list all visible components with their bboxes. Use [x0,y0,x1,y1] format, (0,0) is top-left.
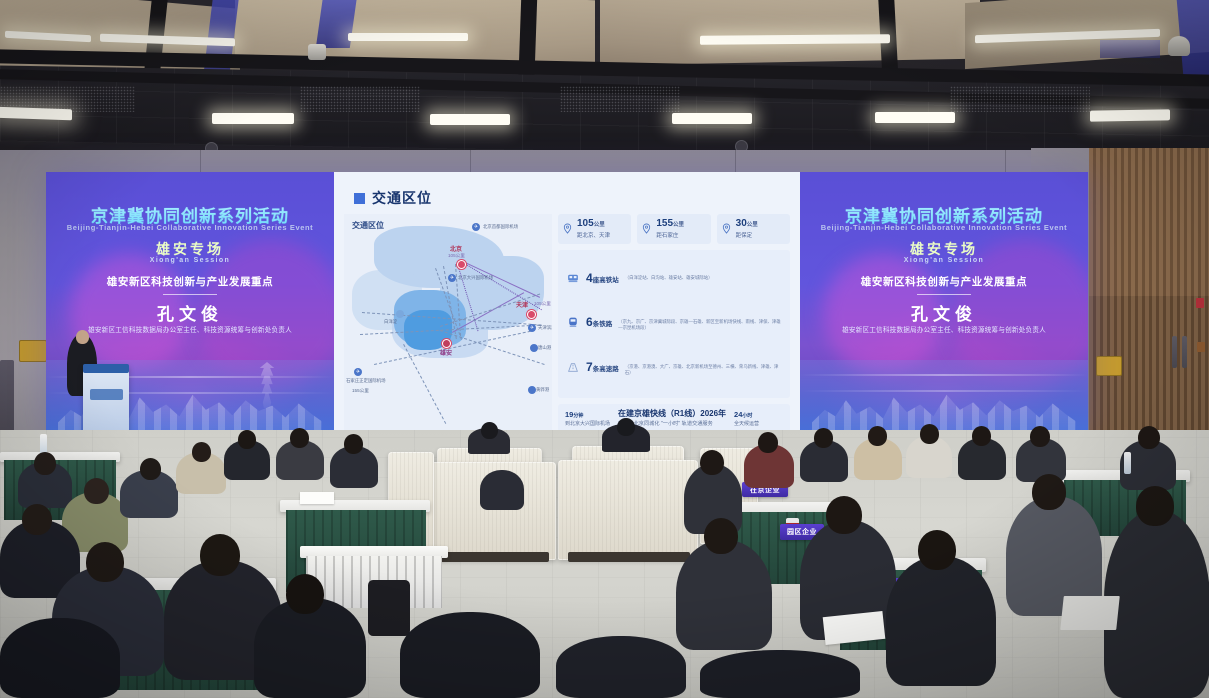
audience-head [34,452,56,475]
document [300,492,334,504]
banner-session-title: 雄安专场 [46,239,334,259]
audience-head [1030,426,1050,447]
audience-person [676,540,772,650]
audience-head [972,426,991,446]
slide-heading: 交通区位 [372,188,432,208]
ceiling-sensor [1168,36,1190,56]
wall-fixture [1197,342,1205,352]
banner-topic: 雄安新区科技创新与产业发展重点 [46,274,334,289]
fact-note: （京九、京广、京津冀城际段、京雄—石雄、新区至新机场快线、雨线、津保、津雄—京昆… [618,316,782,331]
map-poi-label: 唐山港 [538,345,551,351]
distance-card-row: 105公里 距北京、天津 [558,214,790,244]
airport-icon: ✈ [448,274,456,282]
audience-person [0,618,120,698]
map-poi-label: 黄骅港 [536,387,549,393]
blue-accent-light [1100,40,1160,58]
map-city-name: 北京 [450,244,462,253]
audience-head [238,430,256,449]
fact-row: 7条高速路 （京港、京港澳、大广、京雄、北京新机场至德州、三横、荣乌新线、津雄、… [566,361,782,376]
map-poi-label: 北京大兴国际机场 [458,275,493,281]
wood-slat-wall [1089,148,1209,458]
port-icon [530,344,538,352]
map-city-distance: 105公里 [534,301,551,307]
map-city-distance: 105公里 [448,253,465,259]
chair-base [433,552,549,562]
banner-topic: 雄安新区科技创新与产业发展重点 [800,274,1088,289]
map-label: 交通区位 [352,220,384,231]
banner-main-subtitle: Beijing-Tianjin-Hebei Collaborative Inno… [46,223,334,232]
audience-head [86,542,124,582]
audience-head [344,434,363,454]
ceiling-light [700,34,890,45]
ceiling-light [1090,109,1170,121]
banner-session-subtitle: Xiong'an Session [800,257,1088,264]
map-poi-label: 白洋淀 [384,319,397,325]
audience-person [886,556,996,686]
audience-head [192,442,211,462]
ceiling-baffle [600,0,980,65]
conference-hall-scene: 京津冀协同创新系列活动 Beijing-Tianjin-Hebei Collab… [0,0,1209,698]
bottom-item: 24小时 全天候运营 [734,410,759,427]
audience-head [84,478,109,504]
audience-person [480,470,524,510]
region-map: 交通区位 [344,214,552,432]
audience-head [868,426,887,446]
audience-head [700,450,724,475]
train-icon [566,316,580,329]
airport-icon: ✈ [472,223,480,231]
banner-speaker-name: 孔文俊 [800,300,1088,325]
audience-head [920,424,939,444]
map-city-name: 雄安 [440,348,452,357]
audience-person [556,636,686,698]
audience-head [704,518,738,554]
map-xiongan-dot [442,339,451,348]
laptop [1060,596,1120,630]
exit-sign-icon [19,340,47,362]
audience-person [700,650,860,698]
distance-card: 105公里 距北京、天津 [558,214,631,244]
map-poi-label: 天津滨海国际机场 [538,325,552,331]
distance-label: 距北京、天津 [577,231,610,239]
ceiling-mesh [560,86,680,112]
podium-top-panel [83,364,129,373]
location-pin-icon [562,223,573,234]
podium-logo-panel [90,389,123,400]
ceiling-light [212,113,294,124]
banner-main-subtitle: Beijing-Tianjin-Hebei Collaborative Inno… [800,223,1088,232]
right-banner-panel: 京津冀协同创新系列活动 Beijing-Tianjin-Hebei Collab… [800,172,1088,438]
distance-card: 155公里 距石家庄 [637,214,710,244]
banner-divider [163,294,217,295]
ceiling-light [672,113,752,124]
speaker-head [76,330,89,344]
slide-header: 交通区位 [354,188,432,208]
distance-value: 105公里 [577,219,610,230]
map-city-dot [457,260,466,269]
ceiling-light [430,114,510,125]
audience-head [140,458,161,480]
wall-handle [1182,336,1187,368]
location-pin-icon [641,223,652,234]
map-city-dot [527,310,536,319]
distance-card: 30公里 距保定 [717,214,790,244]
ceiling-mesh [950,86,1090,112]
highway-icon [566,361,580,374]
ceiling-light [875,112,955,123]
airport-icon: ✈ [528,324,536,332]
fire-alarm-icon [1196,298,1204,308]
map-city-distance: 155公里 [352,388,369,394]
fact-note: （京港、京港澳、大广、京雄、北京新机场至德州、三横、荣乌新线、津雄、津石） [625,361,782,376]
water-bottle [40,434,47,454]
fact-row: 6条铁路 （京九、京广、京津冀城际段、京雄—石雄、新区至新机场快线、雨线、津保、… [566,316,782,331]
bottom-value: 19分钟 [565,410,610,419]
audience-head [918,530,956,570]
banner-speaker-role: 雄安新区工信科技数据局办公室主任、科技资源统筹与创新处负责人 [800,324,1088,334]
distance-value: 155公里 [656,219,684,230]
chair-base [568,552,690,562]
led-video-wall: 京津冀协同创新系列活动 Beijing-Tianjin-Hebei Collab… [46,172,1088,438]
exit-sign-icon [1096,356,1122,376]
highspeed-rail-icon [566,272,580,285]
audience-head [1032,474,1066,510]
ceiling-sensor [308,44,326,60]
transport-fact-box: 4座高铁站 （白洋淀站、白沟站、雄安站、雄安城际站） [558,250,790,399]
audience-head [1138,426,1160,449]
fact-value: 7条高速路 [586,361,619,374]
armchair [558,460,698,560]
banner-wave [800,374,1088,376]
distance-label: 距石家庄 [656,231,684,239]
banner-session-subtitle: Xiong'an Session [46,257,334,264]
audience-head [286,574,324,614]
ceiling-light [348,33,468,41]
bottom-value: 24小时 [734,410,759,419]
audience-head [617,418,635,436]
bottom-sub: 到北京大兴国际机场 [565,420,610,427]
audience-head [1136,486,1174,526]
bottom-sub: 全天候运营 [734,420,759,427]
lake-icon [396,310,404,318]
audience-head [481,422,498,439]
audience-person [400,612,540,698]
port-icon [528,386,536,394]
bullet-square-icon [354,193,365,204]
wall-handle [1172,336,1177,368]
ceiling [0,0,1209,170]
distance-value: 30公里 [736,219,758,230]
banner-session-title: 雄安专场 [800,239,1088,259]
audience-head [826,496,862,534]
fact-note: （白洋淀站、白沟站、雄安站、雄安城际站） [625,272,713,281]
map-poi-label: 北京首都国际机场 [483,224,518,230]
audience-person [1104,510,1209,698]
map-city-name: 天津 [516,300,528,309]
audience-head [22,504,52,535]
banner-speaker-name: 孔文俊 [46,300,334,325]
fact-value: 6条铁路 [586,316,612,329]
audience-head [814,428,833,448]
audience-head [758,432,778,453]
audience-head [200,534,240,576]
slide-info-column: 105公里 距北京、天津 [558,214,790,432]
banner-divider [917,294,971,295]
location-pin-icon [721,223,732,234]
backpack [368,580,410,636]
banner-wave [800,390,1088,392]
bottom-item: 19分钟 到北京大兴国际机场 [565,410,610,427]
bottom-value: 在建京雄快线（R1线）2026年 [618,409,726,419]
ceiling-mesh [300,86,420,112]
distance-label: 距保定 [736,231,758,239]
audience-head [290,428,309,448]
podium [83,365,129,435]
slide-bottom-bar: 19分钟 到北京大兴国际机场 在建京雄快线（R1线）2026年 实现与北京同城化… [558,404,790,432]
water-bottle [1124,452,1131,474]
fact-value: 4座高铁站 [586,272,619,285]
banner-speaker-role: 雄安新区工信科技数据局办公室主任、科技资源统筹与创新处负责人 [46,324,334,334]
map-poi-label: 石家庄正定国际机场 [346,378,386,384]
airport-icon: ✈ [354,368,362,376]
presentation-slide: 交通区位 交通区位 [334,172,800,438]
fact-row: 4座高铁站 （白洋淀站、白沟站、雄安站、雄安城际站） [566,272,782,285]
